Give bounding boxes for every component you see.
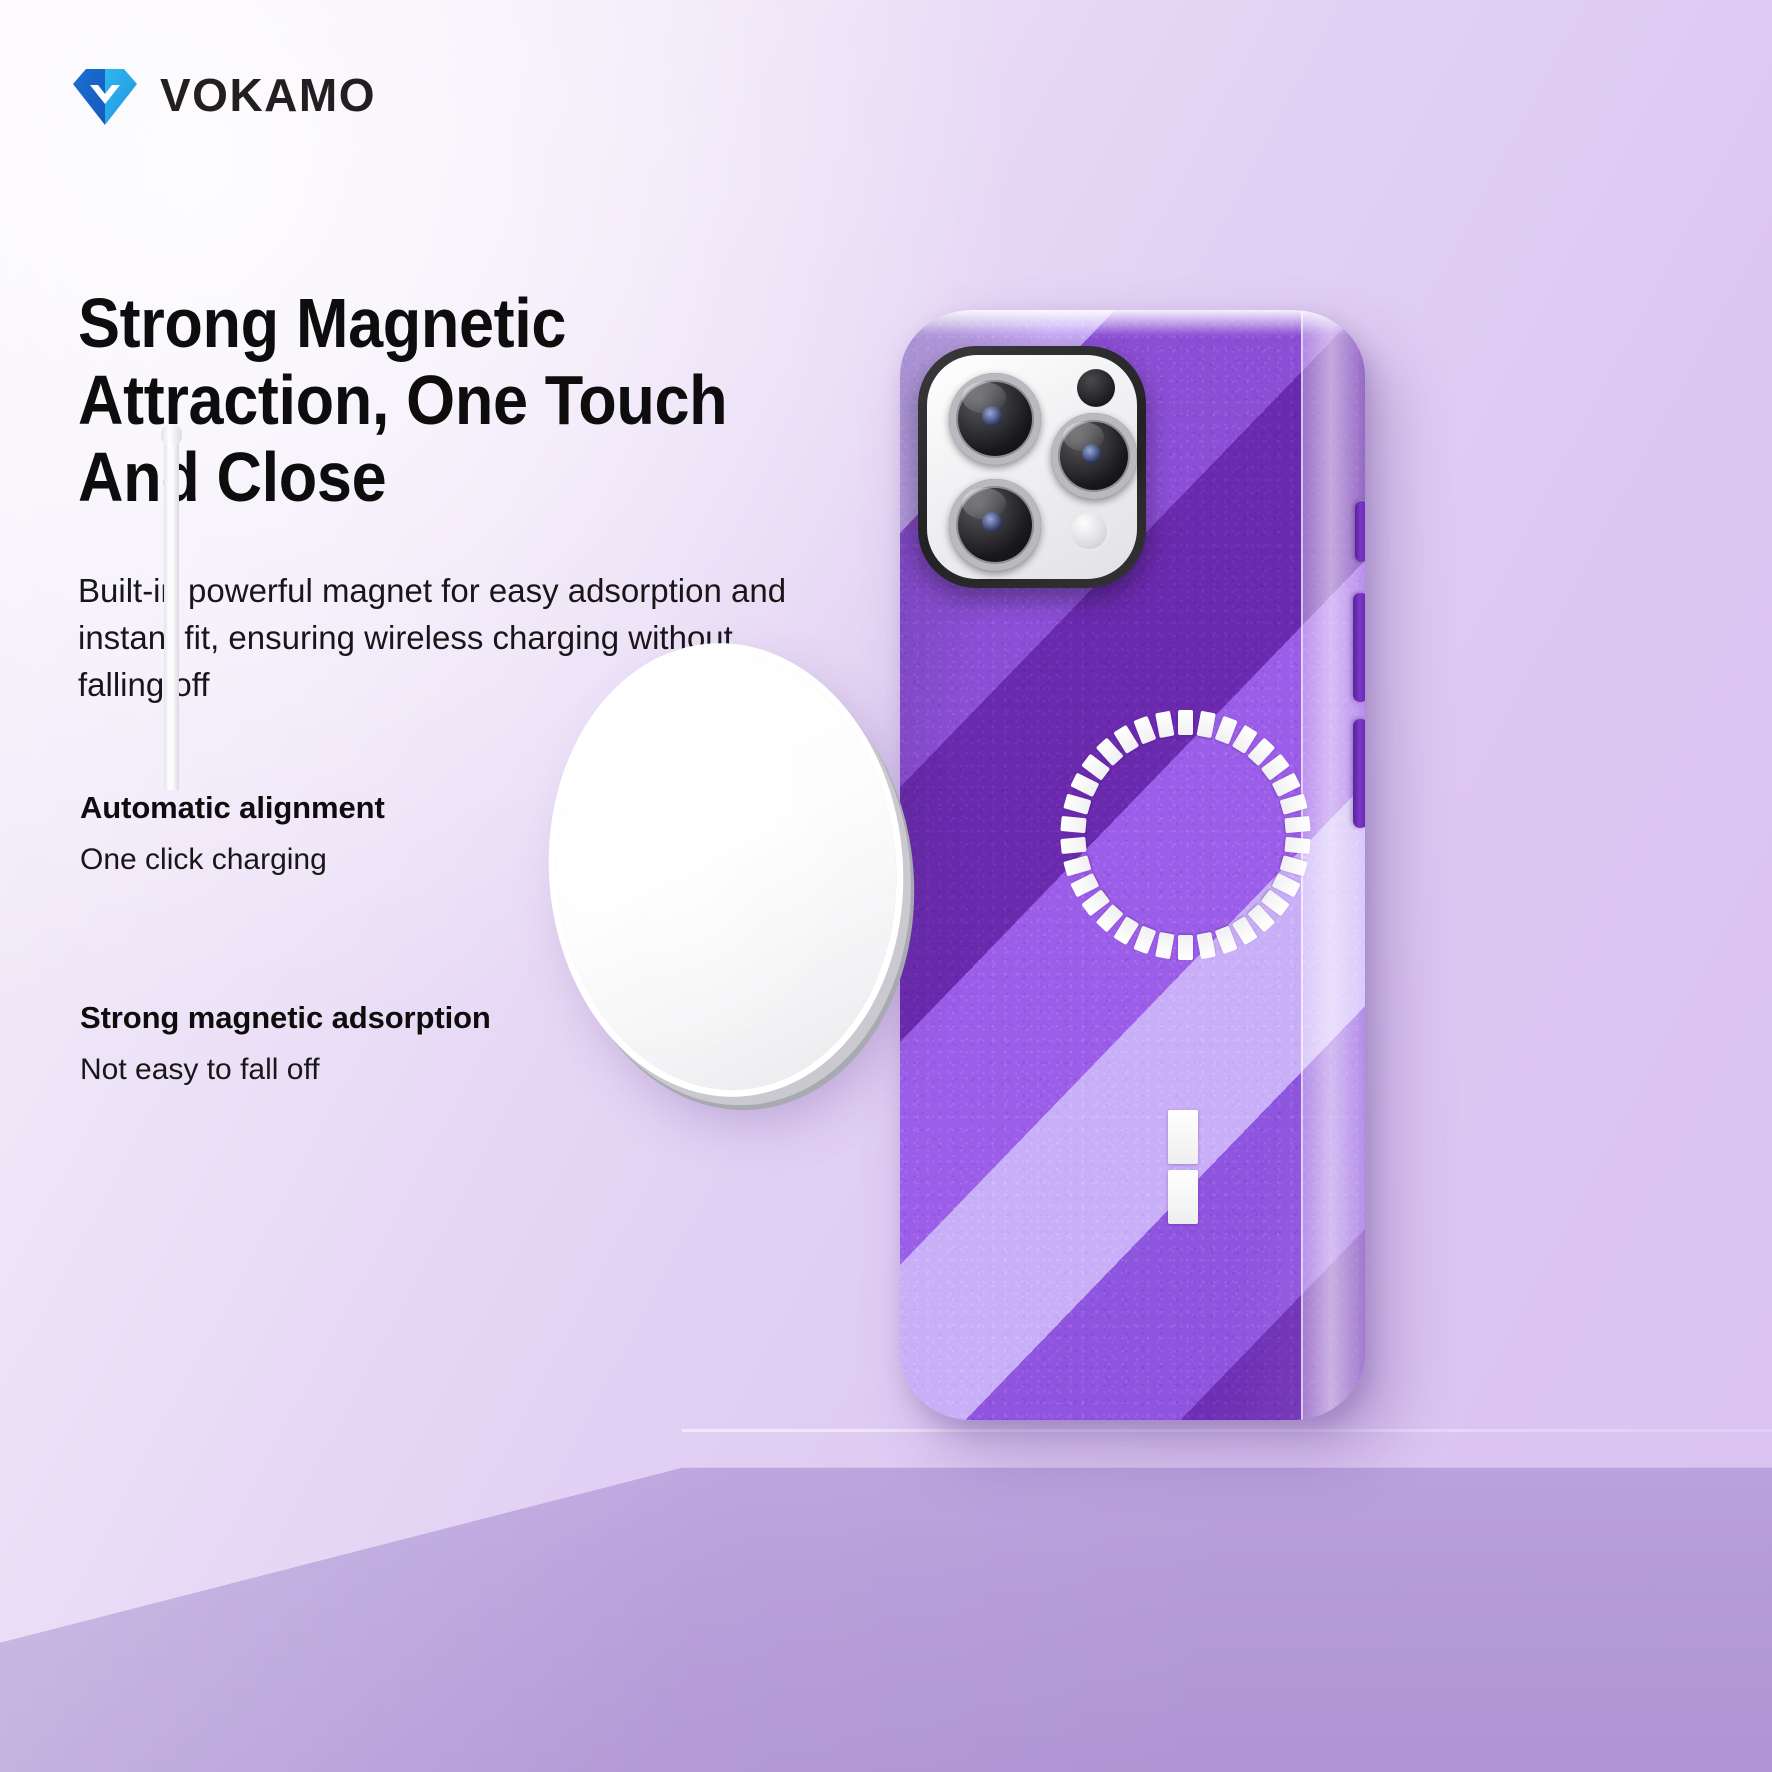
magnet-segment [1196,711,1215,738]
studio-floor-plane [0,1432,1772,1772]
case-side-facet [1303,310,1365,1420]
magnet-segment [1178,710,1193,735]
cable-strain-relief [161,424,182,446]
brand-name: VOKAMO [160,72,376,118]
camera-module [918,346,1146,588]
product-banner-stage: VOKAMO Strong Magnetic Attraction, One T… [0,0,1772,1772]
magnet-segment [1196,932,1215,959]
magsafe-magnet-ring [1060,710,1310,960]
action-button[interactable] [1355,500,1365,562]
camera-lens-icon [949,479,1041,571]
magnet-segment [1133,716,1156,745]
magnet-segment [1284,837,1310,854]
magnet-segment [1214,716,1237,745]
copy-block: Strong Magnetic Attraction, One Touch An… [78,285,908,709]
volume-down-button[interactable] [1353,718,1365,828]
magnet-segment [1063,794,1091,815]
phone-with-case [900,310,1365,1420]
magnet-segment [1214,926,1237,955]
charging-cable [164,430,179,790]
magnet-segment [1155,932,1174,959]
diamond-heart-logo-icon [72,64,138,126]
camera-lens-icon [1051,413,1137,499]
magnet-segment [1279,855,1307,876]
page-title: Strong Magnetic Attraction, One Touch An… [78,285,825,516]
volume-up-button[interactable] [1353,592,1365,702]
magnet-segment [1063,855,1091,876]
floor-wall-seam [682,1429,1772,1432]
magnet-segment [1279,794,1307,815]
lidar-sensor-icon [1077,369,1115,407]
alignment-marker [1168,1110,1198,1224]
magnet-segment [1155,711,1174,738]
magnet-segment [1060,816,1086,833]
charger-disc [541,639,911,1102]
magnet-segment [1178,935,1193,960]
camera-flash-icon [1067,509,1111,553]
camera-lens-icon [949,373,1041,465]
brand-logo: VOKAMO [72,64,376,126]
camera-plate [927,355,1137,579]
magnet-segment [1133,926,1156,955]
magsafe-wireless-charger [556,650,896,1090]
magnet-segment [1284,816,1310,833]
magnet-segment [1060,837,1086,854]
alignment-bar [1168,1170,1198,1224]
alignment-bar [1168,1110,1198,1164]
